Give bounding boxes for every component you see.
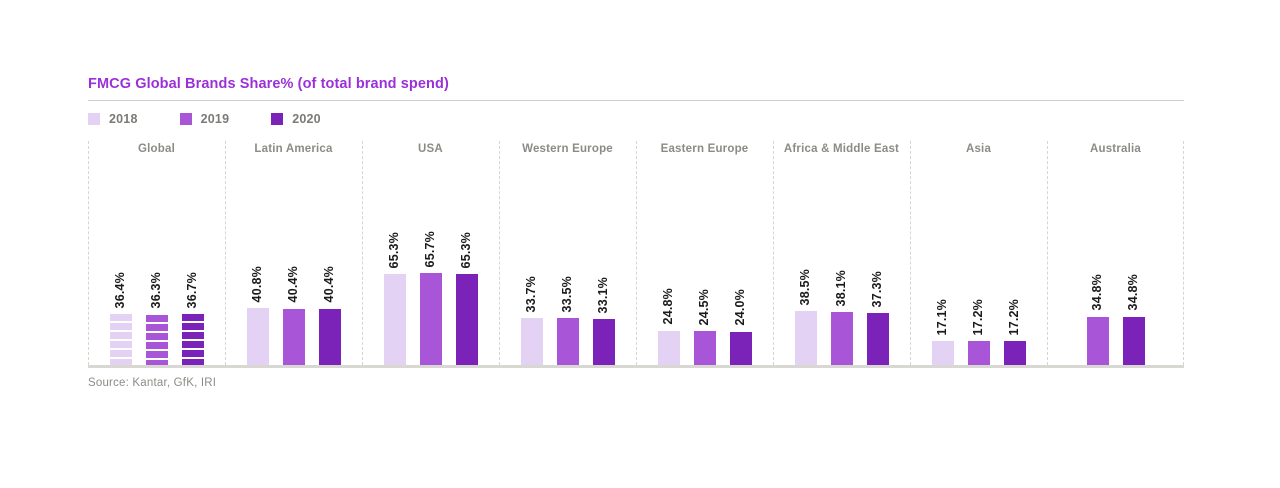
bar-column-2018[interactable]: 38.5% <box>795 157 817 365</box>
bar-column-2018[interactable]: 17.1% <box>932 157 954 365</box>
chart-plot-area: Global36.4%36.3%36.7%Latin America40.8%4… <box>88 141 1184 365</box>
bar-value-label: 40.4% <box>287 266 300 302</box>
bar-2020[interactable] <box>1123 317 1145 366</box>
bar-2020[interactable] <box>1004 341 1026 365</box>
group-bars: 33.7%33.5%33.1% <box>499 157 636 365</box>
legend-swatch-icon <box>180 113 192 125</box>
chart-group-australia: Australia34.8%34.8% <box>1047 141 1184 365</box>
bar-2020[interactable] <box>456 274 478 365</box>
bar-value-label: 36.7% <box>186 272 199 308</box>
bar-column-2019[interactable]: 33.5% <box>557 157 579 365</box>
bar-value-label: 34.8% <box>1091 274 1104 310</box>
bar-2020[interactable] <box>593 319 615 365</box>
bar-2018[interactable] <box>110 314 132 365</box>
bar-column-2018[interactable]: 40.8% <box>247 157 269 365</box>
bar-column-2019[interactable]: 36.3% <box>146 157 168 365</box>
group-bars: 38.5%38.1%37.3% <box>773 157 910 365</box>
group-label: Latin America <box>254 141 332 157</box>
bar-2018[interactable] <box>384 274 406 365</box>
legend-item-label: 2018 <box>109 112 138 126</box>
bar-value-label: 24.5% <box>698 289 711 325</box>
legend-swatch-icon <box>271 113 283 125</box>
bar-2019[interactable] <box>831 312 853 365</box>
bar-2020[interactable] <box>319 309 341 366</box>
bar-column-2019[interactable]: 40.4% <box>283 157 305 365</box>
bar-2020[interactable] <box>730 332 752 366</box>
bar-2018[interactable] <box>932 341 954 365</box>
legend-item-2020[interactable]: 2020 <box>271 112 321 126</box>
bar-value-label: 65.3% <box>460 232 473 268</box>
bar-column-2020[interactable]: 40.4% <box>319 157 341 365</box>
group-bars: 36.4%36.3%36.7% <box>88 157 225 365</box>
bar-2018[interactable] <box>658 331 680 366</box>
bar-2020[interactable] <box>182 314 204 365</box>
chart-title: FMCG Global Brands Share% (of total bran… <box>88 76 1184 100</box>
bar-2018[interactable] <box>247 308 269 365</box>
bar-value-label: 17.2% <box>972 299 985 335</box>
bar-value-label: 24.8% <box>662 288 675 324</box>
bar-2019[interactable] <box>283 309 305 366</box>
bar-2019[interactable] <box>968 341 990 365</box>
bar-column-2018[interactable]: 36.4% <box>110 157 132 365</box>
group-label: Australia <box>1090 141 1141 157</box>
bar-2019[interactable] <box>557 318 579 365</box>
bar-2019[interactable] <box>694 331 716 365</box>
bar-column-2020[interactable]: 24.0% <box>730 157 752 365</box>
bar-2019[interactable] <box>420 273 442 365</box>
bar-2020[interactable] <box>867 313 889 365</box>
group-bars: 17.1%17.2%17.2% <box>910 157 1047 365</box>
bar-value-label: 24.0% <box>734 289 747 325</box>
group-bars: 34.8%34.8% <box>1047 157 1184 365</box>
group-bars: 24.8%24.5%24.0% <box>636 157 773 365</box>
bar-column-2018[interactable]: 65.3% <box>384 157 406 365</box>
chart-group-usa: USA65.3%65.7%65.3% <box>362 141 499 365</box>
legend-item-label: 2020 <box>292 112 321 126</box>
bar-column-2020[interactable]: 17.2% <box>1004 157 1026 365</box>
bar-column-2020[interactable]: 37.3% <box>867 157 889 365</box>
legend-item-2018[interactable]: 2018 <box>88 112 138 126</box>
bar-column-2020[interactable]: 33.1% <box>593 157 615 365</box>
chart-group-western-europe: Western Europe33.7%33.5%33.1% <box>499 141 636 365</box>
bar-2018[interactable] <box>521 318 543 365</box>
group-label: Global <box>138 141 175 157</box>
chart-container: FMCG Global Brands Share% (of total bran… <box>88 76 1184 389</box>
legend-item-label: 2019 <box>201 112 230 126</box>
axis-baseline <box>88 365 1184 368</box>
group-bars: 65.3%65.7%65.3% <box>362 157 499 365</box>
bar-value-label: 38.5% <box>799 269 812 305</box>
bar-2019[interactable] <box>146 315 168 366</box>
bar-value-label: 40.4% <box>323 266 336 302</box>
chart-group-eastern-europe: Eastern Europe24.8%24.5%24.0% <box>636 141 773 365</box>
chart-page: FMCG Global Brands Share% (of total bran… <box>0 0 1280 488</box>
bar-column-2020[interactable]: 65.3% <box>456 157 478 365</box>
bar-value-label: 37.3% <box>871 271 884 307</box>
legend-item-2019[interactable]: 2019 <box>180 112 230 126</box>
bar-value-label: 33.7% <box>525 276 538 312</box>
chart-group-africa-middle-east: Africa & Middle East38.5%38.1%37.3% <box>773 141 910 365</box>
bar-column-2019[interactable]: 34.8% <box>1087 157 1109 365</box>
bar-column-2020[interactable]: 36.7% <box>182 157 204 365</box>
chart-group-global: Global36.4%36.3%36.7% <box>88 141 225 365</box>
bar-value-label: 36.4% <box>114 272 127 308</box>
bar-column-2019[interactable]: 38.1% <box>831 157 853 365</box>
bar-column-2019[interactable]: 24.5% <box>694 157 716 365</box>
bar-value-label: 36.3% <box>150 272 163 308</box>
bar-value-label: 33.5% <box>561 276 574 312</box>
chart-group-asia: Asia17.1%17.2%17.2% <box>910 141 1047 365</box>
bar-column-2018[interactable]: 33.7% <box>521 157 543 365</box>
bar-column-2018[interactable]: 24.8% <box>658 157 680 365</box>
bar-value-label: 33.1% <box>597 277 610 313</box>
source-note: Source: Kantar, GfK, IRI <box>88 377 1184 389</box>
group-label: Africa & Middle East <box>784 141 899 157</box>
bar-column-2019[interactable]: 65.7% <box>420 157 442 365</box>
chart-group-latin-america: Latin America40.8%40.4%40.4% <box>225 141 362 365</box>
legend-swatch-icon <box>88 113 100 125</box>
bar-value-label: 65.3% <box>388 232 401 268</box>
group-label: Asia <box>966 141 991 157</box>
bar-value-label: 17.1% <box>936 299 949 335</box>
bar-value-label: 65.7% <box>424 231 437 267</box>
bar-column-2020[interactable]: 34.8% <box>1123 157 1145 365</box>
bar-2019[interactable] <box>1087 317 1109 366</box>
chart-legend: 201820192020 <box>88 111 1184 127</box>
bar-2018[interactable] <box>795 311 817 365</box>
title-divider <box>88 100 1184 101</box>
group-label: Western Europe <box>522 141 613 157</box>
group-bars: 40.8%40.4%40.4% <box>225 157 362 365</box>
bar-column-2019[interactable]: 17.2% <box>968 157 990 365</box>
bar-value-label: 40.8% <box>251 266 264 302</box>
bar-value-label: 34.8% <box>1127 274 1140 310</box>
group-label: USA <box>418 141 443 157</box>
bar-value-label: 17.2% <box>1008 299 1021 335</box>
bar-value-label: 38.1% <box>835 270 848 306</box>
group-label: Eastern Europe <box>661 141 749 157</box>
